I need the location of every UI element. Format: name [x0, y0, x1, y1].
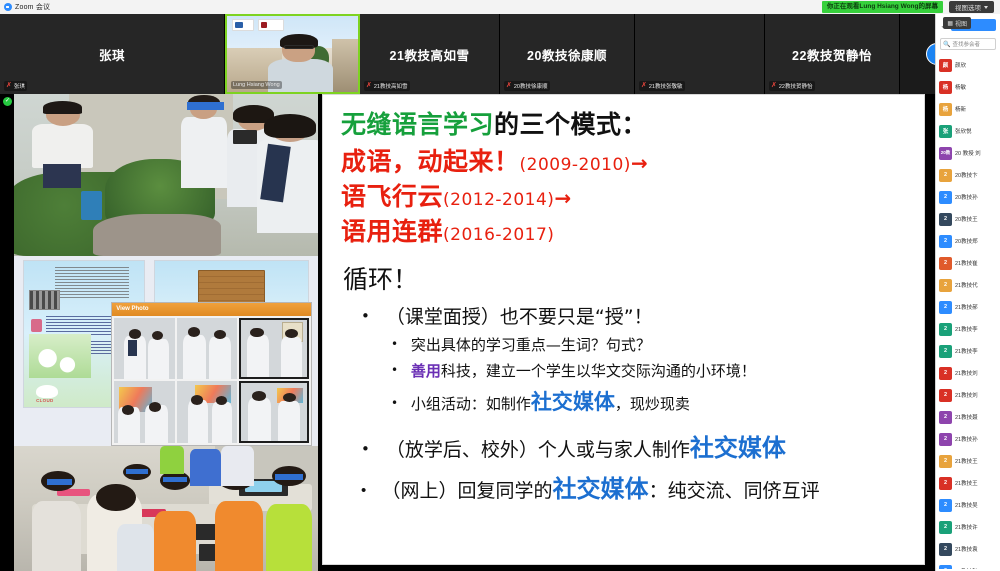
avatar: 2 — [939, 477, 952, 490]
photo-rock — [93, 214, 221, 256]
participant-name: 21教技王 — [955, 457, 978, 465]
participant-name: 20教技孙 — [955, 193, 978, 201]
participants-list[interactable]: 颜颜欣 杨杨敏 杨杨新 张张欣悦 20教20 教授 刘 220教技卞 220教技… — [936, 54, 1000, 569]
slide-bullet-1: （课堂面授）也不要只是“授”！ — [361, 302, 910, 329]
slide-subbullet-1-3-post: ，现炒现卖 — [615, 395, 690, 413]
video-tile-3[interactable]: 20教技徐康顺 ✗ 20教技徐康顺 — [500, 14, 635, 94]
mic-muted-icon: ✗ — [641, 83, 647, 89]
participant-name: 21教技王 — [955, 479, 978, 487]
avatar: 2 — [939, 191, 952, 204]
collage-thumbnail — [29, 290, 60, 310]
participant-name: 杨新 — [955, 105, 966, 113]
participant-name: 20教技郑 — [955, 237, 978, 245]
list-item[interactable]: 221教技聂 — [936, 406, 1000, 428]
slide-subbullet-1-1: 突出具体的学习重点—生词？句式？ — [391, 334, 910, 355]
list-item[interactable]: 220教技王 — [936, 208, 1000, 230]
list-item[interactable]: 颜颜欣 — [936, 54, 1000, 76]
video-tile-4[interactable]: ✗ 21教技张敬敏 — [635, 14, 765, 94]
list-item[interactable]: 221教技代 — [936, 274, 1000, 296]
slide-mode-3-text: 语用连群 — [341, 217, 443, 246]
cell-head — [250, 328, 263, 338]
video-tile-badge: ✗ 张琪 — [4, 81, 27, 91]
photo-collage-view-photo: CLOUD View Photo — [14, 256, 318, 446]
list-item[interactable]: 221教技李 — [936, 318, 1000, 340]
collage-avatar-1 — [31, 319, 42, 332]
logo-nie-icon — [232, 19, 254, 31]
slide-subbullet-1-2-emph: 善用 — [411, 362, 441, 380]
participant-name: 21教技崔 — [955, 259, 978, 267]
view-photo-window[interactable]: View Photo — [111, 302, 312, 446]
student-left-1 — [32, 501, 81, 571]
mic-muted-icon: ✗ — [771, 83, 777, 89]
photo-teacher — [32, 104, 93, 188]
participant-name: 21教技许 — [955, 523, 978, 531]
face-redaction — [163, 477, 187, 482]
avatar: 张 — [939, 125, 952, 138]
cell-head — [214, 330, 225, 339]
building-right — [332, 39, 358, 92]
list-item[interactable]: 221教技许 — [936, 516, 1000, 538]
mic-muted-icon: ✗ — [6, 83, 12, 89]
cell-student — [148, 339, 169, 380]
video-tile-0[interactable]: 张琪 ✗ 张琪 — [0, 14, 225, 94]
video-tile-badge: Lung Hsiang Wong — [231, 81, 282, 89]
participant-name: 20 教授 刘 — [955, 149, 981, 157]
slide-mode-1-text: 成语，动起来！ — [341, 147, 520, 176]
view-photo-grid — [112, 316, 311, 445]
video-tile-badge: ✗ 21教技高如雪 — [364, 81, 410, 91]
video-tile-badge: ✗ 21教技张敬敏 — [639, 81, 685, 91]
slide-cycle-heading: 循环！ — [343, 260, 910, 296]
photo-student-hair — [264, 114, 316, 137]
slide-subbullet-1-1-text: 突出具体的学习重点—生词？句式？ — [411, 336, 651, 354]
slide-subbullet-1-3: 小组活动：如制作社交媒体，现炒现卖 — [391, 386, 910, 416]
participant-name: 20教技卞 — [955, 171, 978, 179]
photo-cell-5[interactable] — [177, 381, 238, 443]
mic-muted-icon: ✗ — [506, 83, 512, 89]
participant-name: 张欣悦 — [955, 127, 972, 135]
chevron-down-icon — [984, 6, 988, 9]
view-options-button[interactable]: 视图选项 — [949, 1, 994, 13]
avatar: 杨 — [939, 103, 952, 116]
participant-name: 21教技吴 — [955, 501, 978, 509]
slide-bullet-2-emph: 社交媒体 — [690, 434, 786, 462]
view-photo-title: View Photo — [116, 306, 148, 312]
presentation-slide: 无缝语言学习的三个模式： 成语，动起来！(2009-2010)→ 语飞行云(20… — [322, 94, 925, 565]
view-options-label: 视图选项 — [955, 2, 981, 12]
avatar: 2 — [939, 345, 952, 358]
photo-student-3 — [257, 117, 318, 234]
video-tile-name: 20教技徐康顺 — [527, 45, 607, 64]
avatar: 2 — [939, 213, 952, 226]
list-item[interactable]: 220教技孙 — [936, 186, 1000, 208]
list-item[interactable]: 221教技崔 — [936, 252, 1000, 274]
logo-ntu-icon — [258, 19, 284, 31]
list-item[interactable]: 221教技李 — [936, 340, 1000, 362]
screen-share-label: 你正在观看Lung Hsiang Wong的屏幕 — [827, 3, 938, 11]
student-orange-2 — [215, 501, 264, 571]
avatar: 2 — [939, 521, 952, 534]
cell-head — [191, 395, 203, 405]
photo-teacher-hair — [43, 101, 82, 114]
participants-panel: ⌄ 🔍 查找参会者 颜颜欣 杨杨敏 杨杨新 张张欣悦 20教20 教授 刘 22… — [935, 14, 1000, 571]
face-redaction — [275, 474, 302, 480]
slide-bullet-2-pre: （放学后、校外）个人或与家人制作 — [386, 439, 690, 461]
cell-sash — [128, 340, 138, 356]
video-tile-badge-label: 22教技贺静怡 — [779, 82, 813, 90]
video-tile-badge-label: 20教技徐康顺 — [514, 82, 548, 90]
photo-cell-4[interactable] — [114, 381, 175, 443]
avatar: 2 — [939, 499, 952, 512]
avatar: 2 — [939, 565, 952, 570]
screen-share-banner: 你正在观看Lung Hsiang Wong的屏幕 — [822, 1, 943, 13]
avatar: 2 — [939, 455, 952, 468]
slide-bullet-1-text: （课堂面授）也不要只是“授”！ — [386, 306, 653, 328]
participant-name: 21教技刘 — [955, 391, 978, 399]
list-item[interactable]: 张张欣悦 — [936, 120, 1000, 142]
participant-name: 21教技刘 — [955, 369, 978, 377]
photo-cell-1[interactable] — [114, 318, 175, 380]
collage-text-block — [55, 267, 129, 299]
banner-logos — [232, 19, 324, 31]
photo-face-redaction — [187, 102, 223, 110]
face-redaction — [126, 469, 147, 474]
slide-mode-1-arrow: → — [631, 151, 648, 175]
cell-head — [283, 393, 296, 402]
video-tile-badge-label: 21教技张敬敏 — [649, 82, 683, 90]
cell-head — [252, 391, 266, 401]
participant-name: 21教技赵 — [955, 567, 978, 569]
presenter-glasses — [284, 45, 314, 49]
video-tile-2[interactable]: 21教技高如雪 ✗ 21教技高如雪 — [360, 14, 500, 94]
video-tile-badge: ✗ 22教技贺静怡 — [769, 81, 815, 91]
list-item[interactable]: 杨杨新 — [936, 98, 1000, 120]
participant-name: 21教技郝 — [955, 303, 978, 311]
collage-wooden-sign — [198, 270, 265, 306]
avatar: 2 — [939, 323, 952, 336]
slide-subbullet-1-3-emph: 社交媒体 — [531, 390, 615, 414]
avatar: 杨 — [939, 81, 952, 94]
list-item[interactable]: 221教技王 — [936, 472, 1000, 494]
slide-bullet-2: （放学后、校外）个人或与家人制作社交媒体 — [361, 428, 910, 463]
cell-student — [212, 402, 233, 443]
cell-head — [129, 329, 141, 339]
face-redaction — [47, 479, 71, 485]
list-item[interactable]: 221教技袁 — [936, 538, 1000, 560]
collage-flower-image — [29, 334, 91, 378]
participant-name: 杨敏 — [955, 83, 966, 91]
list-item[interactable]: 221教技孙 — [936, 428, 1000, 450]
slide-bullet-3-emph: 社交媒体 — [553, 476, 649, 503]
slide-mode-1: 成语，动起来！(2009-2010)→ — [341, 142, 910, 178]
participant-name: 20教技王 — [955, 215, 978, 223]
photo-classroom-tablets — [14, 446, 318, 571]
video-tile-badge: ✗ 20教技徐康顺 — [504, 81, 550, 91]
slide-bullet-3-post: ：纯交流、同侪互评 — [649, 481, 820, 502]
video-tile-name: 21教技高如雪 — [390, 45, 470, 64]
slide-mode-1-years: (2009-2010) — [520, 155, 631, 175]
slide-mode-2-arrow: → — [554, 186, 571, 210]
avatar: 2 — [939, 367, 952, 380]
cell-student — [281, 337, 302, 377]
list-item[interactable]: 220教技郑 — [936, 230, 1000, 252]
view-layout-label: 视图 — [955, 19, 967, 28]
cell-student — [247, 335, 269, 378]
list-item[interactable]: 221教技赵 — [936, 560, 1000, 569]
slide-mode-2: 语飞行云(2012-2014)→ — [341, 177, 910, 213]
cell-student — [278, 401, 300, 441]
student-standing-blue — [190, 449, 220, 487]
slide-title: 无缝语言学习的三个模式： — [341, 105, 910, 141]
slide-subbullet-1-2: 善用科技，建立一个学生以华文交际沟通的小环境！ — [391, 360, 910, 381]
zoom-meeting-window: Zoom 会议 你正在观看Lung Hsiang Wong的屏幕 视图选项 张琪… — [0, 0, 1000, 571]
search-placeholder: 查找参会者 — [952, 40, 980, 48]
photo-cell-2[interactable] — [177, 318, 238, 380]
cloud-logo-icon — [36, 385, 58, 398]
participant-name: 21教技代 — [955, 281, 978, 289]
list-item[interactable]: 杨杨敏 — [936, 76, 1000, 98]
grid-icon: ▦ — [947, 20, 953, 27]
title-bar: Zoom 会议 你正在观看Lung Hsiang Wong的屏幕 视图选项 — [0, 0, 1000, 14]
photo-student-body — [181, 117, 227, 188]
video-tile-1-active-speaker[interactable]: Lung Hsiang Wong — [225, 14, 360, 94]
slide-subbullet-1-2-text: 科技，建立一个学生以华文交际沟通的小环境！ — [441, 362, 756, 380]
list-item[interactable]: 221教技王 — [936, 450, 1000, 472]
mic-muted-icon: ✗ — [366, 83, 372, 89]
participant-name: 21教技李 — [955, 347, 978, 355]
slide-title-black: 的三个模式： — [494, 110, 647, 139]
slide-bullet-3-pre: （网上）回复同学的 — [382, 481, 553, 502]
slide-mode-3-years: (2016-2017) — [443, 225, 554, 245]
avatar: 2 — [939, 411, 952, 424]
search-icon: 🔍 — [943, 41, 950, 48]
participant-filmstrip[interactable]: 张琪 ✗ 张琪 — [0, 14, 935, 94]
sharing-indicator-icon: ✓ — [3, 97, 12, 106]
participant-name: 21教技袁 — [955, 545, 978, 553]
view-photo-titlebar: View Photo — [112, 303, 311, 316]
photo-outdoor-students — [14, 94, 318, 256]
avatar: 颜 — [939, 59, 952, 72]
photo-blue-bin — [81, 191, 102, 220]
slide-mode-2-text: 语飞行云 — [341, 182, 443, 211]
app-title: Zoom 会议 — [15, 2, 50, 12]
participant-name: 21教技李 — [955, 325, 978, 333]
list-item[interactable]: 221教技刘 — [936, 384, 1000, 406]
avatar: 2 — [939, 169, 952, 182]
avatar: 2 — [939, 279, 952, 292]
video-tile-name: 22教技贺静怡 — [792, 45, 872, 64]
photo-teacher-legs — [43, 164, 81, 188]
list-item[interactable]: 221教技郝 — [936, 296, 1000, 318]
video-tile-name: 张琪 — [99, 45, 125, 64]
cell-student — [183, 335, 206, 379]
list-item[interactable]: 221教技吴 — [936, 494, 1000, 516]
avatar: 2 — [939, 235, 952, 248]
cell-student — [188, 400, 209, 443]
zoom-logo-icon — [4, 3, 12, 11]
photo-teacher-body — [32, 124, 93, 168]
slide-mode-3: 语用连群(2016-2017) — [341, 212, 910, 248]
slide-title-green: 无缝语言学习 — [341, 110, 494, 139]
avatar: 2 — [939, 257, 952, 270]
student-standing-green — [160, 446, 184, 474]
cell-student — [209, 337, 231, 379]
student-green — [266, 504, 312, 571]
photo-cell-3-highlighted[interactable] — [239, 318, 309, 380]
participant-name: 颜欣 — [955, 61, 966, 69]
video-tile-5[interactable]: 22教技贺静怡 ✗ 22教技贺静怡 — [765, 14, 900, 94]
student-center-back-head — [96, 484, 136, 512]
student-orange-1 — [154, 511, 197, 571]
avatar: 2 — [939, 543, 952, 556]
list-item[interactable]: 20教20 教授 刘 — [936, 142, 1000, 164]
list-item[interactable]: 220教技卞 — [936, 164, 1000, 186]
slide-bullet-3: （网上）回复同学的社交媒体：纯交流、同侪互评 — [361, 475, 906, 505]
student-mid-1 — [117, 524, 153, 571]
photo-cell-6-highlighted[interactable] — [239, 381, 309, 443]
avatar: 2 — [939, 389, 952, 402]
participant-name: 21教技孙 — [955, 435, 978, 443]
participant-name: 21教技聂 — [955, 413, 978, 421]
avatar: 2 — [939, 301, 952, 314]
slide-subbullet-1-3-pre: 小组活动：如制作 — [411, 395, 531, 413]
video-tile-badge-label: Lung Hsiang Wong — [233, 82, 280, 88]
avatar: 2 — [939, 433, 952, 446]
slide-mode-2-years: (2012-2014) — [443, 190, 554, 210]
search-input[interactable]: 🔍 查找参会者 — [940, 38, 996, 50]
view-layout-button[interactable]: ▦ 视图 — [943, 17, 971, 29]
collage-comment-1 — [46, 316, 120, 335]
list-item[interactable]: 221教技刘 — [936, 362, 1000, 384]
avatar: 20教 — [939, 147, 952, 160]
photo-camera-phone — [233, 130, 257, 145]
student-standing-white — [221, 446, 254, 486]
shared-screen-stage: ✓ — [0, 94, 935, 571]
cell-head — [122, 405, 134, 415]
cell-head — [285, 329, 297, 338]
video-tile-badge-label: 21教技高如雪 — [374, 82, 408, 90]
photo-column: CLOUD View Photo — [14, 94, 318, 571]
photo-student-1 — [181, 97, 227, 188]
video-tile-badge-label: 张琪 — [14, 82, 25, 90]
cell-student — [248, 398, 272, 441]
cloud-logo-text: CLOUD — [36, 398, 54, 403]
